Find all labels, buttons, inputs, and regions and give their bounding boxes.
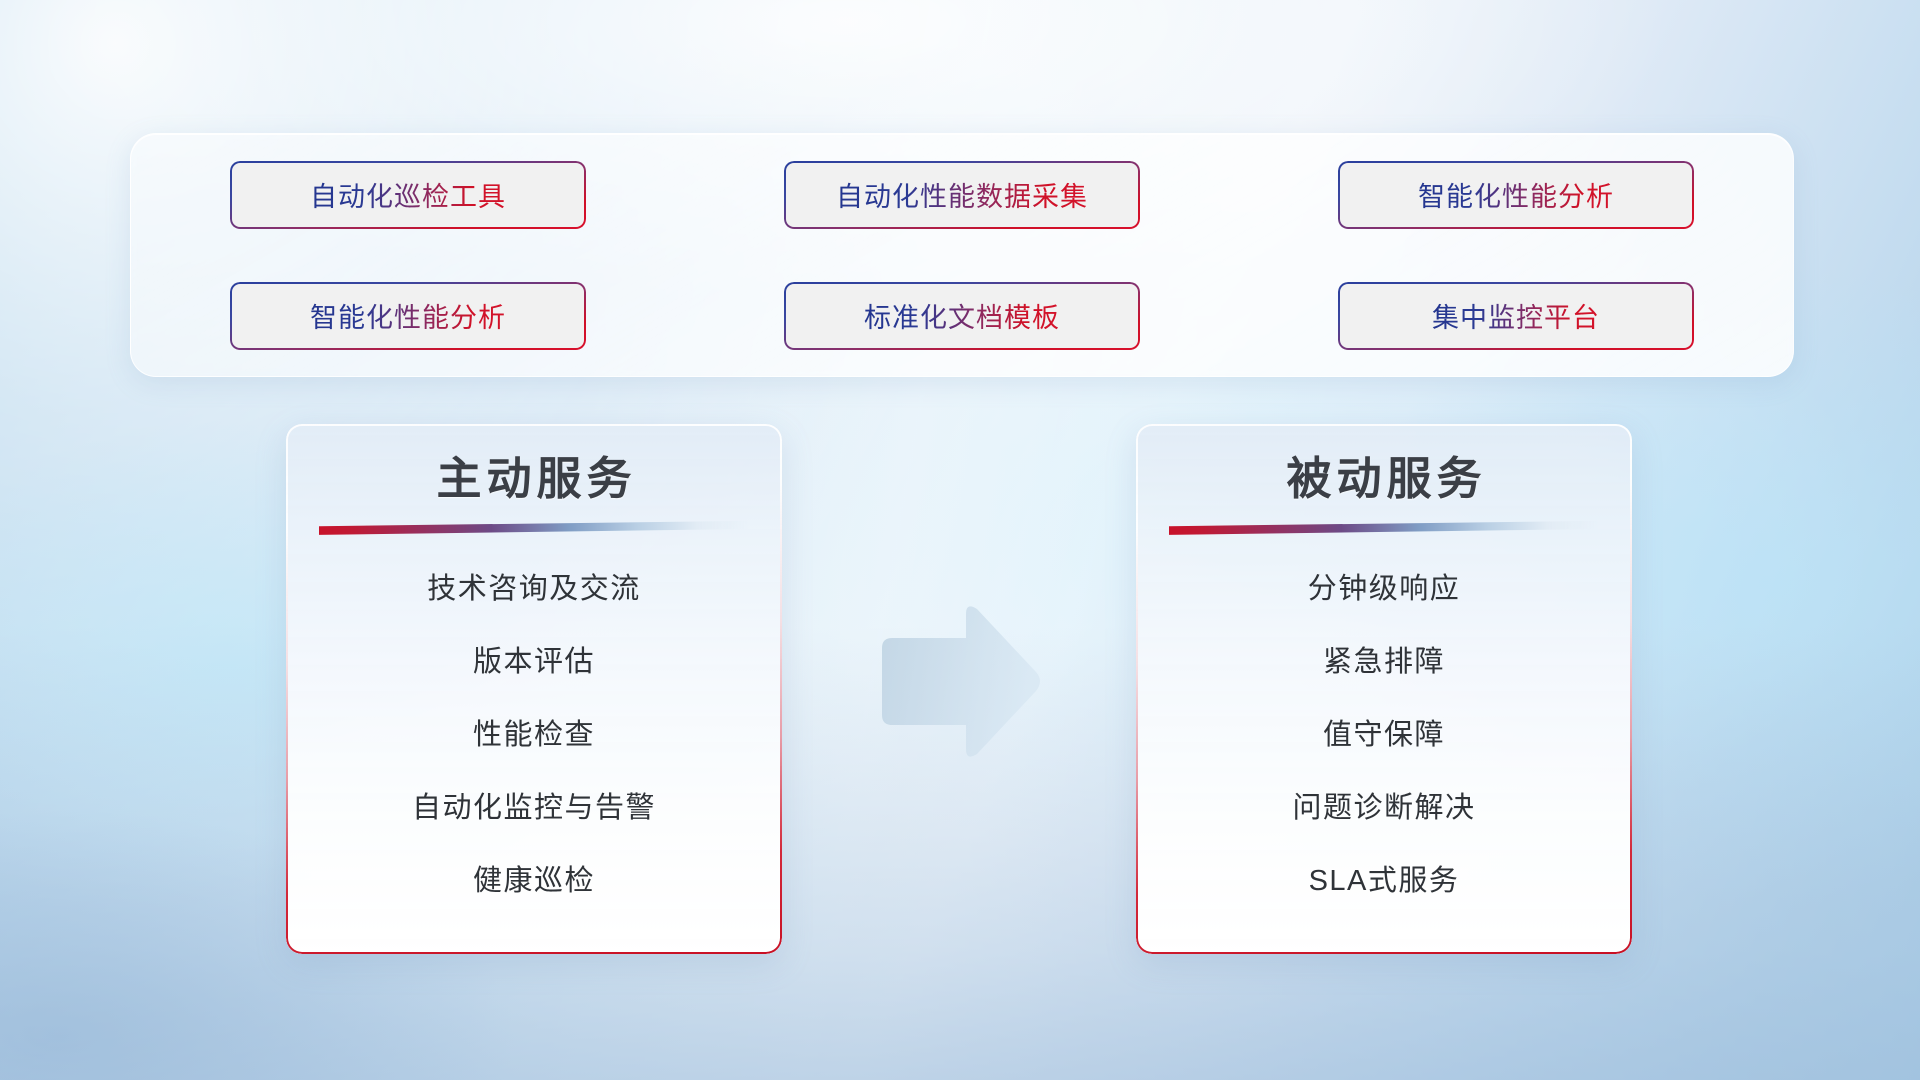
- capability-pill-label: 标准化文档模板: [864, 296, 1060, 335]
- capability-pill[interactable]: 标准化文档模板: [784, 282, 1140, 350]
- service-list-item: 值守保障: [1323, 721, 1445, 750]
- capability-pill-label: 自动化性能数据采集: [836, 175, 1088, 214]
- title-divider: [319, 521, 749, 537]
- title-divider-bar: [1169, 521, 1599, 535]
- service-list-item: 性能检查: [473, 721, 595, 750]
- capability-pill[interactable]: 自动化性能数据采集: [784, 161, 1140, 229]
- service-item-list: 技术咨询及交流 版本评估 性能检查 自动化监控与告警 健康巡检: [286, 575, 782, 896]
- service-list-item: 紧急排障: [1323, 648, 1445, 677]
- capability-pill-label: 自动化巡检工具: [310, 175, 506, 214]
- service-card-title: 被动服务: [1281, 452, 1486, 507]
- service-list-item: 问题诊断解决: [1292, 794, 1475, 823]
- capability-panel: 自动化巡检工具 自动化性能数据采集 智能化性能分析 智能化性能分析 标准化文档模…: [130, 133, 1794, 377]
- service-list-item: SLA式服务: [1309, 867, 1460, 896]
- service-list-item: 版本评估: [473, 648, 595, 677]
- service-card-passive[interactable]: 被动服务 分钟级响应 紧急排障 值守保障 问题诊断解决 SLA式服务: [1136, 424, 1632, 954]
- title-divider-bar: [319, 521, 749, 535]
- capability-pill-grid: 自动化巡检工具 自动化性能数据采集 智能化性能分析 智能化性能分析 标准化文档模…: [131, 134, 1793, 376]
- service-card-body: 被动服务 分钟级响应 紧急排障 值守保障 问题诊断解决 SLA式服务: [1136, 424, 1632, 954]
- capability-pill-label: 智能化性能分析: [310, 296, 506, 335]
- capability-pill[interactable]: 智能化性能分析: [230, 282, 586, 350]
- service-list-item: 分钟级响应: [1308, 575, 1461, 604]
- title-divider: [1169, 521, 1599, 537]
- service-item-list: 分钟级响应 紧急排障 值守保障 问题诊断解决 SLA式服务: [1136, 575, 1632, 896]
- capability-pill[interactable]: 集中监控平台: [1338, 282, 1694, 350]
- service-list-item: 健康巡检: [473, 867, 595, 896]
- service-card-title: 主动服务: [431, 452, 636, 507]
- service-list-item: 自动化监控与告警: [412, 794, 656, 823]
- service-card-body: 主动服务 技术咨询及交流 版本评估 性能检查 自动化监控与告警 健康巡检: [286, 424, 782, 954]
- capability-pill-label: 集中监控平台: [1432, 296, 1600, 335]
- capability-pill[interactable]: 自动化巡检工具: [230, 161, 586, 229]
- service-card-active[interactable]: 主动服务 技术咨询及交流 版本评估 性能检查 自动化监控与告警 健康巡检: [286, 424, 782, 954]
- capability-pill-label: 智能化性能分析: [1418, 175, 1614, 214]
- capability-pill[interactable]: 智能化性能分析: [1338, 161, 1694, 229]
- arrow-right-icon: [872, 602, 1044, 762]
- slide-canvas: 自动化巡检工具 自动化性能数据采集 智能化性能分析 智能化性能分析 标准化文档模…: [0, 0, 1920, 1080]
- service-list-item: 技术咨询及交流: [427, 575, 641, 604]
